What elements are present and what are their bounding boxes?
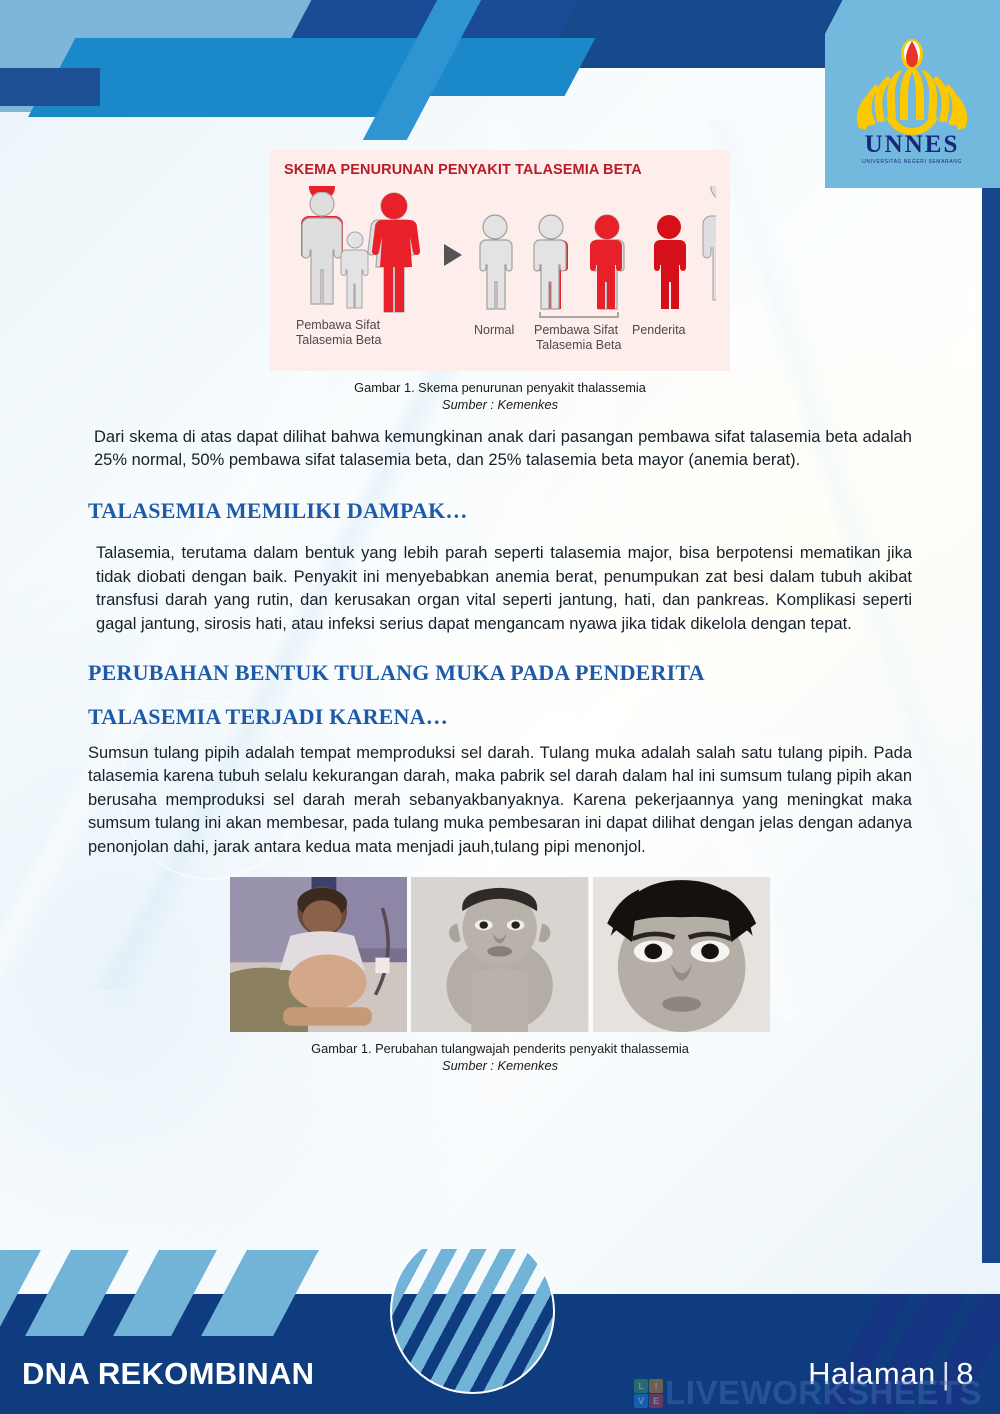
figure-1-source: Sumber : Kemenkes — [270, 396, 730, 413]
page-content: SKEMA PENURUNAN PENYAKIT TALASEMIA BETA — [0, 150, 1000, 1075]
lw-tile-v: V — [634, 1394, 648, 1408]
child-abdomen-photo-icon — [230, 877, 407, 1032]
schema-illustration: Pembawa Sifat Talasemia Beta Normal Pemb… — [284, 186, 716, 361]
schema-label-carrier-2: Talasemia Beta — [536, 338, 622, 352]
lw-tile-e: E — [649, 1394, 663, 1408]
schema-label-parents-1: Pembawa Sifat — [296, 318, 381, 332]
liveworksheets-watermark-text: LIVEWORKSHEETS — [665, 1374, 982, 1412]
liveworksheets-watermark: L I V E LIVEWORKSHEETS — [634, 1374, 982, 1412]
header-shape-dark-left — [0, 68, 100, 106]
figure-2-photo-strip — [230, 877, 770, 1032]
figure-1: SKEMA PENURUNAN PENYAKIT TALASEMIA BETA — [270, 150, 730, 414]
schema-label-normal: Normal — [474, 323, 514, 337]
photo-abdomen — [230, 877, 407, 1032]
lw-tile-i: I — [649, 1379, 663, 1393]
schema-title: SKEMA PENURUNAN PENYAKIT TALASEMIA BETA — [284, 162, 716, 178]
photo-facial-bones — [411, 877, 588, 1032]
body-column: Dari skema di atas dapat dilihat bahwa k… — [88, 426, 912, 860]
heading-perubahan-line2: TALASEMIA TERJADI KARENA… — [88, 704, 912, 730]
inheritance-diagram-icon: Pembawa Sifat Talasemia Beta Normal Pemb… — [284, 186, 716, 361]
paragraph-1: Dari skema di atas dapat dilihat bahwa k… — [88, 426, 912, 473]
schema-label-affected: Penderita — [632, 323, 686, 337]
child-face-closeup-photo-icon — [593, 877, 770, 1032]
heading-perubahan-line1: PERUBAHAN BENTUK TULANG MUKA PADA PENDER… — [88, 660, 912, 686]
schema-label-carrier-1: Pembawa Sifat — [534, 323, 619, 337]
unnes-flame-icon — [846, 36, 978, 136]
footer-title: DNA REKOMBINAN — [22, 1356, 314, 1392]
figure-2-source: Sumber : Kemenkes — [0, 1057, 1000, 1074]
page-footer: DNA REKOMBINAN Halaman|8 L I V E LIVEWOR… — [0, 1249, 1000, 1414]
heading-dampak: TALASEMIA MEMILIKI DAMPAK… — [88, 498, 912, 524]
figure-1-caption-block: Gambar 1. Skema penurunan penyakit thala… — [270, 379, 730, 414]
figure-2-caption: Gambar 1. Perubahan tulangwajah penderit… — [0, 1040, 1000, 1057]
schema-label-parents-2: Talasemia Beta — [296, 333, 382, 347]
child-facial-bones-photo-icon — [411, 877, 588, 1032]
figure-1-caption: Gambar 1. Skema penurunan penyakit thala… — [270, 379, 730, 396]
paragraph-2: Talasemia, terutama dalam bentuk yang le… — [88, 542, 912, 636]
worksheet-page: UNNES UNIVERSITAS NEGERI SEMARANG SKEMA … — [0, 0, 1000, 1414]
figure-2: Gambar 1. Perubahan tulangwajah penderit… — [0, 877, 1000, 1075]
paragraph-3: Sumsun tulang pipih adalah tempat mempro… — [88, 742, 912, 859]
photo-face-closeup — [593, 877, 770, 1032]
figure-2-caption-block: Gambar 1. Perubahan tulangwajah penderit… — [0, 1040, 1000, 1075]
lw-tile-l: L — [634, 1379, 648, 1393]
liveworksheets-logo-icon: L I V E — [634, 1379, 663, 1408]
schema-diagram: SKEMA PENURUNAN PENYAKIT TALASEMIA BETA — [270, 150, 730, 371]
